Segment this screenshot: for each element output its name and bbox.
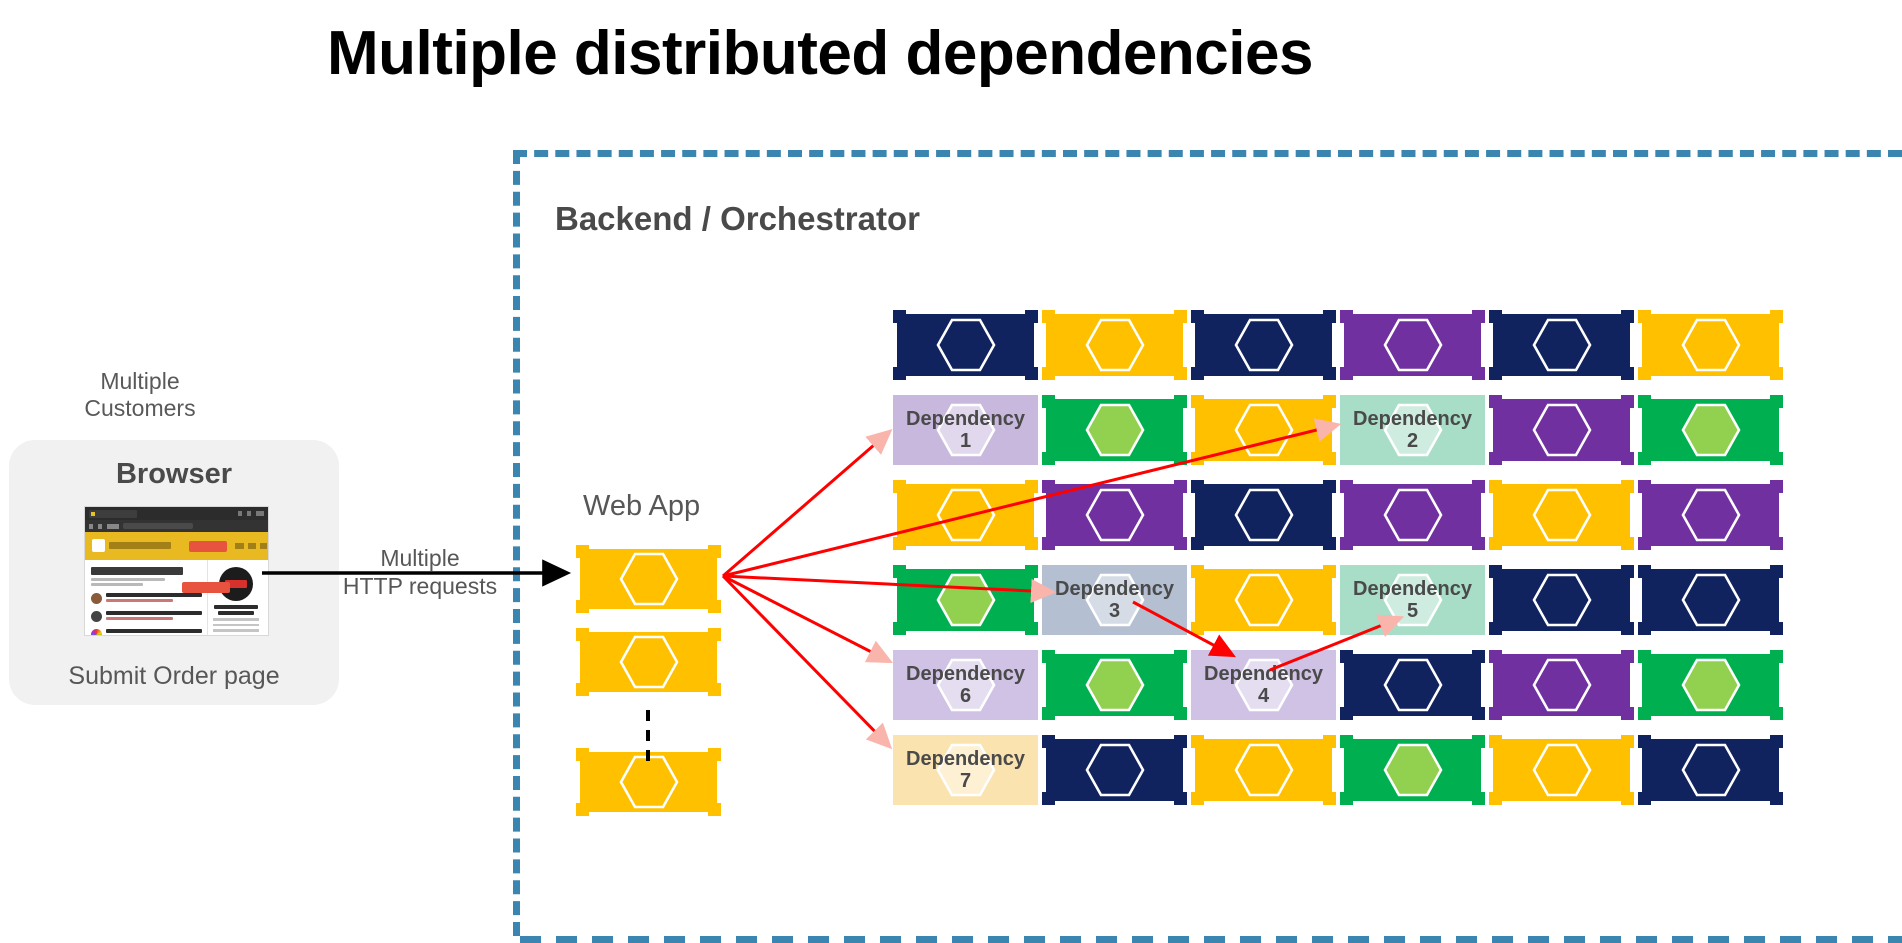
hexagon-icon (1680, 739, 1742, 801)
hexagon-icon (1084, 654, 1146, 716)
hexagon-icon (1084, 314, 1146, 376)
service-card[interactable] (1340, 480, 1485, 550)
avatar (91, 611, 102, 622)
service-card[interactable] (1638, 310, 1783, 380)
site-nav-links (235, 543, 267, 549)
service-card[interactable] (1042, 650, 1187, 720)
service-card[interactable] (1191, 480, 1336, 550)
multiple-customers-label: Multiple Customers (60, 368, 220, 422)
page-caption: Submit Order page (9, 662, 339, 691)
http-line-1: Multiple (330, 545, 510, 573)
news-item (91, 593, 202, 604)
hexagon-icon (1233, 399, 1295, 461)
avatar (91, 629, 102, 636)
service-card[interactable] (1489, 480, 1634, 550)
hexagon-icon (618, 631, 680, 693)
service-card[interactable] (1042, 735, 1187, 805)
dependency-card-5[interactable]: Dependency5 (1340, 565, 1485, 635)
site-subtext-1 (91, 578, 165, 581)
news-text (106, 611, 202, 622)
hexagon-icon (1233, 484, 1295, 546)
hexagon-icon (1531, 569, 1593, 631)
service-card[interactable] (1042, 395, 1187, 465)
dependency-card-2[interactable]: Dependency2 (1340, 395, 1485, 465)
service-card[interactable] (1191, 735, 1336, 805)
hexagon-icon (1680, 484, 1742, 546)
service-card[interactable] (1489, 650, 1634, 720)
service-card[interactable] (1191, 565, 1336, 635)
service-card[interactable] (1489, 395, 1634, 465)
customers-line-1: Multiple (60, 368, 220, 395)
service-card[interactable] (1340, 650, 1485, 720)
browser-tab (89, 510, 137, 518)
hexagon-icon (1084, 399, 1146, 461)
hexagon-icon (1680, 654, 1742, 716)
avatar (91, 593, 102, 604)
site-cta-button (189, 541, 227, 552)
browser-panel: Browser (9, 440, 339, 705)
nav-buttons-icon (89, 524, 119, 529)
dependency-number: 4 (1258, 685, 1269, 707)
site-header (85, 532, 268, 560)
service-card[interactable] (893, 310, 1038, 380)
hexagon-icon (1531, 314, 1593, 376)
site-heading (91, 567, 183, 575)
dependency-number: 3 (1109, 600, 1120, 622)
hexagon-icon (1680, 399, 1742, 461)
dependency-card-3[interactable]: Dependency3 (1042, 565, 1187, 635)
dependency-card-4[interactable]: Dependency4 (1191, 650, 1336, 720)
window-controls-icon (238, 511, 264, 516)
hexagon-icon (1531, 654, 1593, 716)
dependency-label: Dependency (906, 408, 1025, 430)
hexagon-icon (1531, 739, 1593, 801)
dependency-number: 2 (1407, 430, 1418, 452)
service-card[interactable] (1638, 735, 1783, 805)
hexagon-icon (1680, 314, 1742, 376)
dependency-number: 5 (1407, 600, 1418, 622)
news-text (106, 593, 202, 604)
dependency-label: Dependency (906, 748, 1025, 770)
site-logo-icon (92, 539, 105, 552)
dependency-label: Dependency (1353, 408, 1472, 430)
dependency-card-7[interactable]: Dependency7 (893, 735, 1038, 805)
dependency-number: 7 (960, 770, 971, 792)
browser-title: Browser (9, 458, 339, 491)
site-main-column (85, 560, 207, 636)
hexagon-icon (1233, 314, 1295, 376)
webapp-card[interactable] (576, 628, 721, 696)
submit-story-button (182, 582, 230, 593)
dependency-label: Dependency (1055, 578, 1174, 600)
hexagon-icon (1084, 739, 1146, 801)
browser-address-bar (85, 520, 268, 532)
favicon-icon (91, 512, 95, 516)
http-requests-label: Multiple HTTP requests (330, 545, 510, 600)
news-item (91, 611, 202, 622)
service-card[interactable] (1340, 310, 1485, 380)
dependency-number: 1 (960, 430, 971, 452)
dependency-label: Dependency (1204, 663, 1323, 685)
service-card[interactable] (1638, 565, 1783, 635)
browser-mockup-screenshot (84, 506, 269, 636)
hexagon-icon (1680, 569, 1742, 631)
service-card[interactable] (1191, 395, 1336, 465)
service-card[interactable] (1191, 310, 1336, 380)
service-card[interactable] (1340, 735, 1485, 805)
service-card[interactable] (1042, 310, 1187, 380)
page-title: Multiple distributed dependencies (0, 18, 1640, 89)
hexagon-icon (1382, 314, 1444, 376)
hexagon-icon (618, 751, 680, 813)
url-field (123, 523, 193, 529)
customers-line-2: Customers (60, 395, 220, 422)
http-line-2: HTTP requests (330, 573, 510, 601)
news-text (106, 629, 202, 636)
service-card[interactable] (1638, 395, 1783, 465)
browser-chrome-tabbar (85, 507, 268, 520)
hexagon-icon (1084, 484, 1146, 546)
hexagon-icon (1233, 739, 1295, 801)
hexagon-icon (1531, 399, 1593, 461)
backend-title: Backend / Orchestrator (555, 200, 920, 238)
hexagon-icon (1531, 484, 1593, 546)
service-card[interactable] (1638, 480, 1783, 550)
sidebar-title-1 (214, 605, 258, 609)
hexagon-icon (1382, 739, 1444, 801)
webapp-label: Web App (583, 490, 700, 523)
dependency-label: Dependency (1353, 578, 1472, 600)
site-subtext-2 (91, 583, 143, 586)
hexagon-icon (935, 484, 997, 546)
service-card[interactable] (1489, 735, 1634, 805)
dependency-card-1[interactable]: Dependency1 (893, 395, 1038, 465)
hexagon-icon (1233, 569, 1295, 631)
site-logo-text (109, 542, 171, 549)
webapp-card[interactable] (576, 748, 721, 816)
site-sidebar (207, 560, 264, 636)
hexagon-icon (1382, 484, 1444, 546)
sidebar-title-2 (218, 611, 254, 615)
hexagon-icon (935, 569, 997, 631)
dependency-card-6[interactable]: Dependency6 (893, 650, 1038, 720)
hexagon-icon (1382, 654, 1444, 716)
service-card[interactable] (1042, 480, 1187, 550)
service-card[interactable] (1489, 310, 1634, 380)
service-card[interactable] (1489, 565, 1634, 635)
news-item (91, 629, 202, 636)
service-card[interactable] (1638, 650, 1783, 720)
hexagon-icon (935, 314, 997, 376)
dependency-label: Dependency (906, 663, 1025, 685)
service-card[interactable] (893, 480, 1038, 550)
dependency-number: 6 (960, 685, 971, 707)
webapp-card[interactable] (576, 545, 721, 613)
service-card[interactable] (893, 565, 1038, 635)
hexagon-icon (618, 548, 680, 610)
site-body (85, 560, 268, 636)
